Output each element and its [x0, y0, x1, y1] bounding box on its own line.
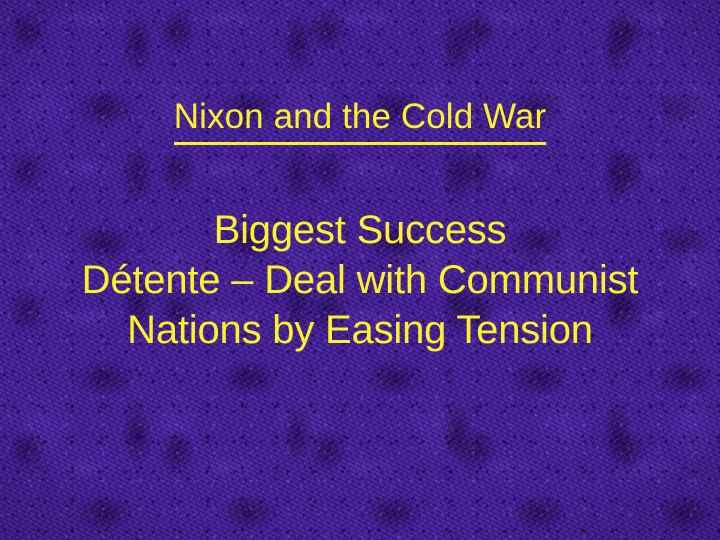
slide-body-line-2: Détente – Deal with Communist: [0, 255, 720, 305]
presentation-slide: Nixon and the Cold War Biggest Success D…: [0, 0, 720, 540]
slide-body-line-1: Biggest Success: [0, 205, 720, 255]
slide-body-line-3: Nations by Easing Tension: [0, 305, 720, 355]
slide-title: Nixon and the Cold War: [0, 96, 720, 145]
slide-content: Nixon and the Cold War Biggest Success D…: [0, 0, 720, 540]
slide-title-text: Nixon and the Cold War: [174, 96, 546, 145]
slide-body: Biggest Success Détente – Deal with Comm…: [0, 205, 720, 355]
